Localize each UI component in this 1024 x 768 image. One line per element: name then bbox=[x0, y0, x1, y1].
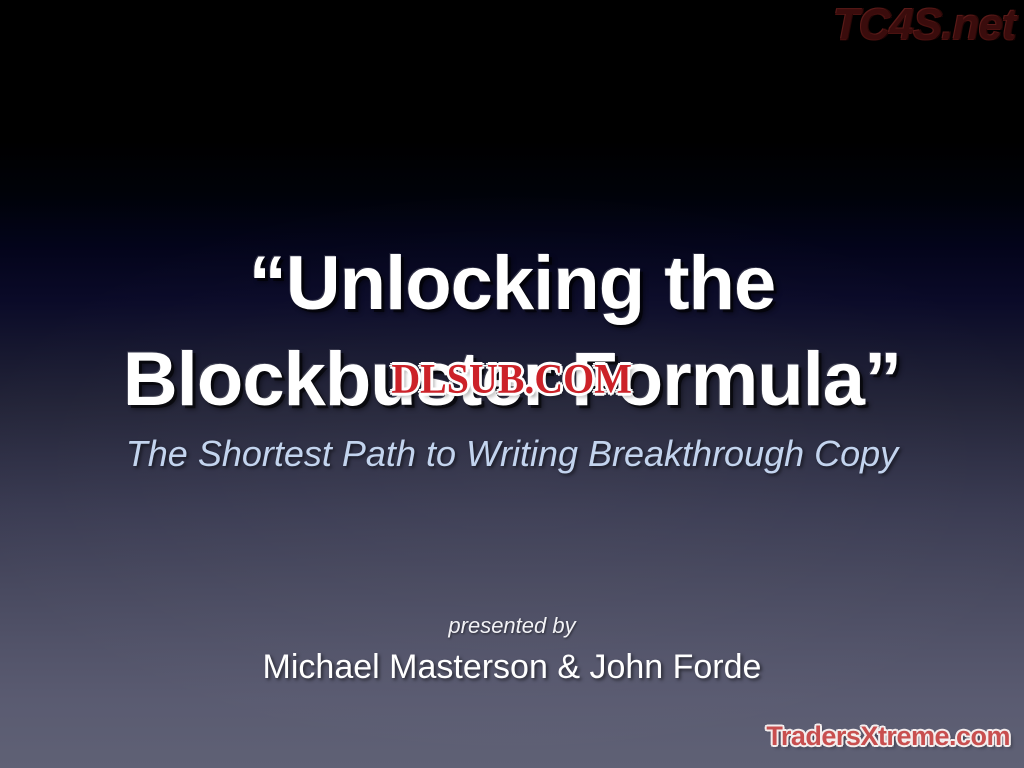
presentation-slide: TC4S.net “Unlocking the Blockbuster Form… bbox=[0, 0, 1024, 768]
title-line-2: Blockbuster Formula” bbox=[0, 332, 1024, 428]
slide-title: “Unlocking the Blockbuster Formula” bbox=[0, 236, 1024, 428]
title-line-1: “Unlocking the bbox=[0, 236, 1024, 332]
presenter-names: Michael Masterson & John Forde bbox=[0, 646, 1024, 688]
presenter-block: presented by Michael Masterson & John Fo… bbox=[0, 612, 1024, 688]
watermark-tc4s: TC4S.net bbox=[833, 2, 1016, 48]
slide-subtitle: The Shortest Path to Writing Breakthroug… bbox=[0, 432, 1024, 476]
logo-tradersxtreme: TradersXtreme.com bbox=[766, 720, 1010, 752]
presented-by-label: presented by bbox=[0, 612, 1024, 640]
